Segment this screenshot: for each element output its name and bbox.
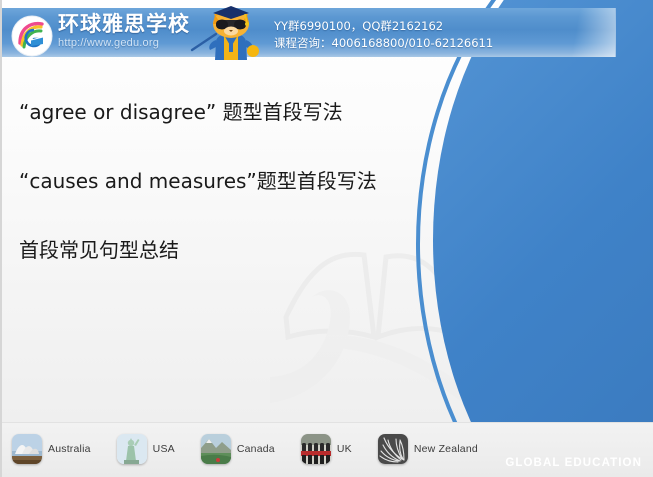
contact-line-phone: 课程咨询：4006168800/010-62126611 [274, 35, 493, 52]
global-education-tagline: GLOBAL EDUCATION [505, 457, 642, 469]
destination-label: UK [337, 443, 352, 455]
destination-label: Australia [48, 443, 91, 455]
brand-block: 环球雅思学校 http://www.gedu.org [58, 14, 190, 49]
body-line-2: “causes and measures”题型首段写法 [19, 165, 377, 194]
destination-list: Australia USA [12, 427, 504, 471]
slide-canvas: 环球雅思学校 http://www.gedu.org [0, 0, 653, 477]
body-line-3: 首段常见句型总结 [19, 234, 377, 263]
contact-info: YY群6990100，QQ群2162162 课程咨询：4006168800/01… [274, 18, 493, 52]
blue-arc-outline [416, 0, 653, 477]
destination-label: Canada [237, 443, 275, 455]
sydney-opera-house-icon [12, 434, 42, 464]
contact-line-groups: YY群6990100，QQ群2162162 [274, 18, 493, 35]
destination-label: New Zealand [414, 443, 478, 455]
destination-new-zealand[interactable]: New Zealand [378, 434, 478, 464]
destination-label: USA [153, 443, 175, 455]
brand-website-url: http://www.gedu.org [58, 38, 190, 49]
gedu-circle-logo-icon [11, 15, 53, 57]
destination-canada[interactable]: Canada [201, 434, 275, 464]
destination-uk[interactable]: UK [301, 434, 352, 464]
royal-guards-icon [301, 434, 331, 464]
slide-body: “agree or disagree” 题型首段写法 “causes and m… [19, 96, 377, 263]
destination-usa[interactable]: USA [117, 434, 175, 464]
mountain-lake-icon [201, 434, 231, 464]
silver-fern-icon [378, 434, 408, 464]
statue-of-liberty-icon [117, 434, 147, 464]
body-line-1: “agree or disagree” 题型首段写法 [19, 96, 377, 125]
brand-name-cn: 环球雅思学校 [58, 14, 190, 35]
graduate-cat-mascot-icon [188, 2, 274, 64]
destination-australia[interactable]: Australia [12, 434, 91, 464]
